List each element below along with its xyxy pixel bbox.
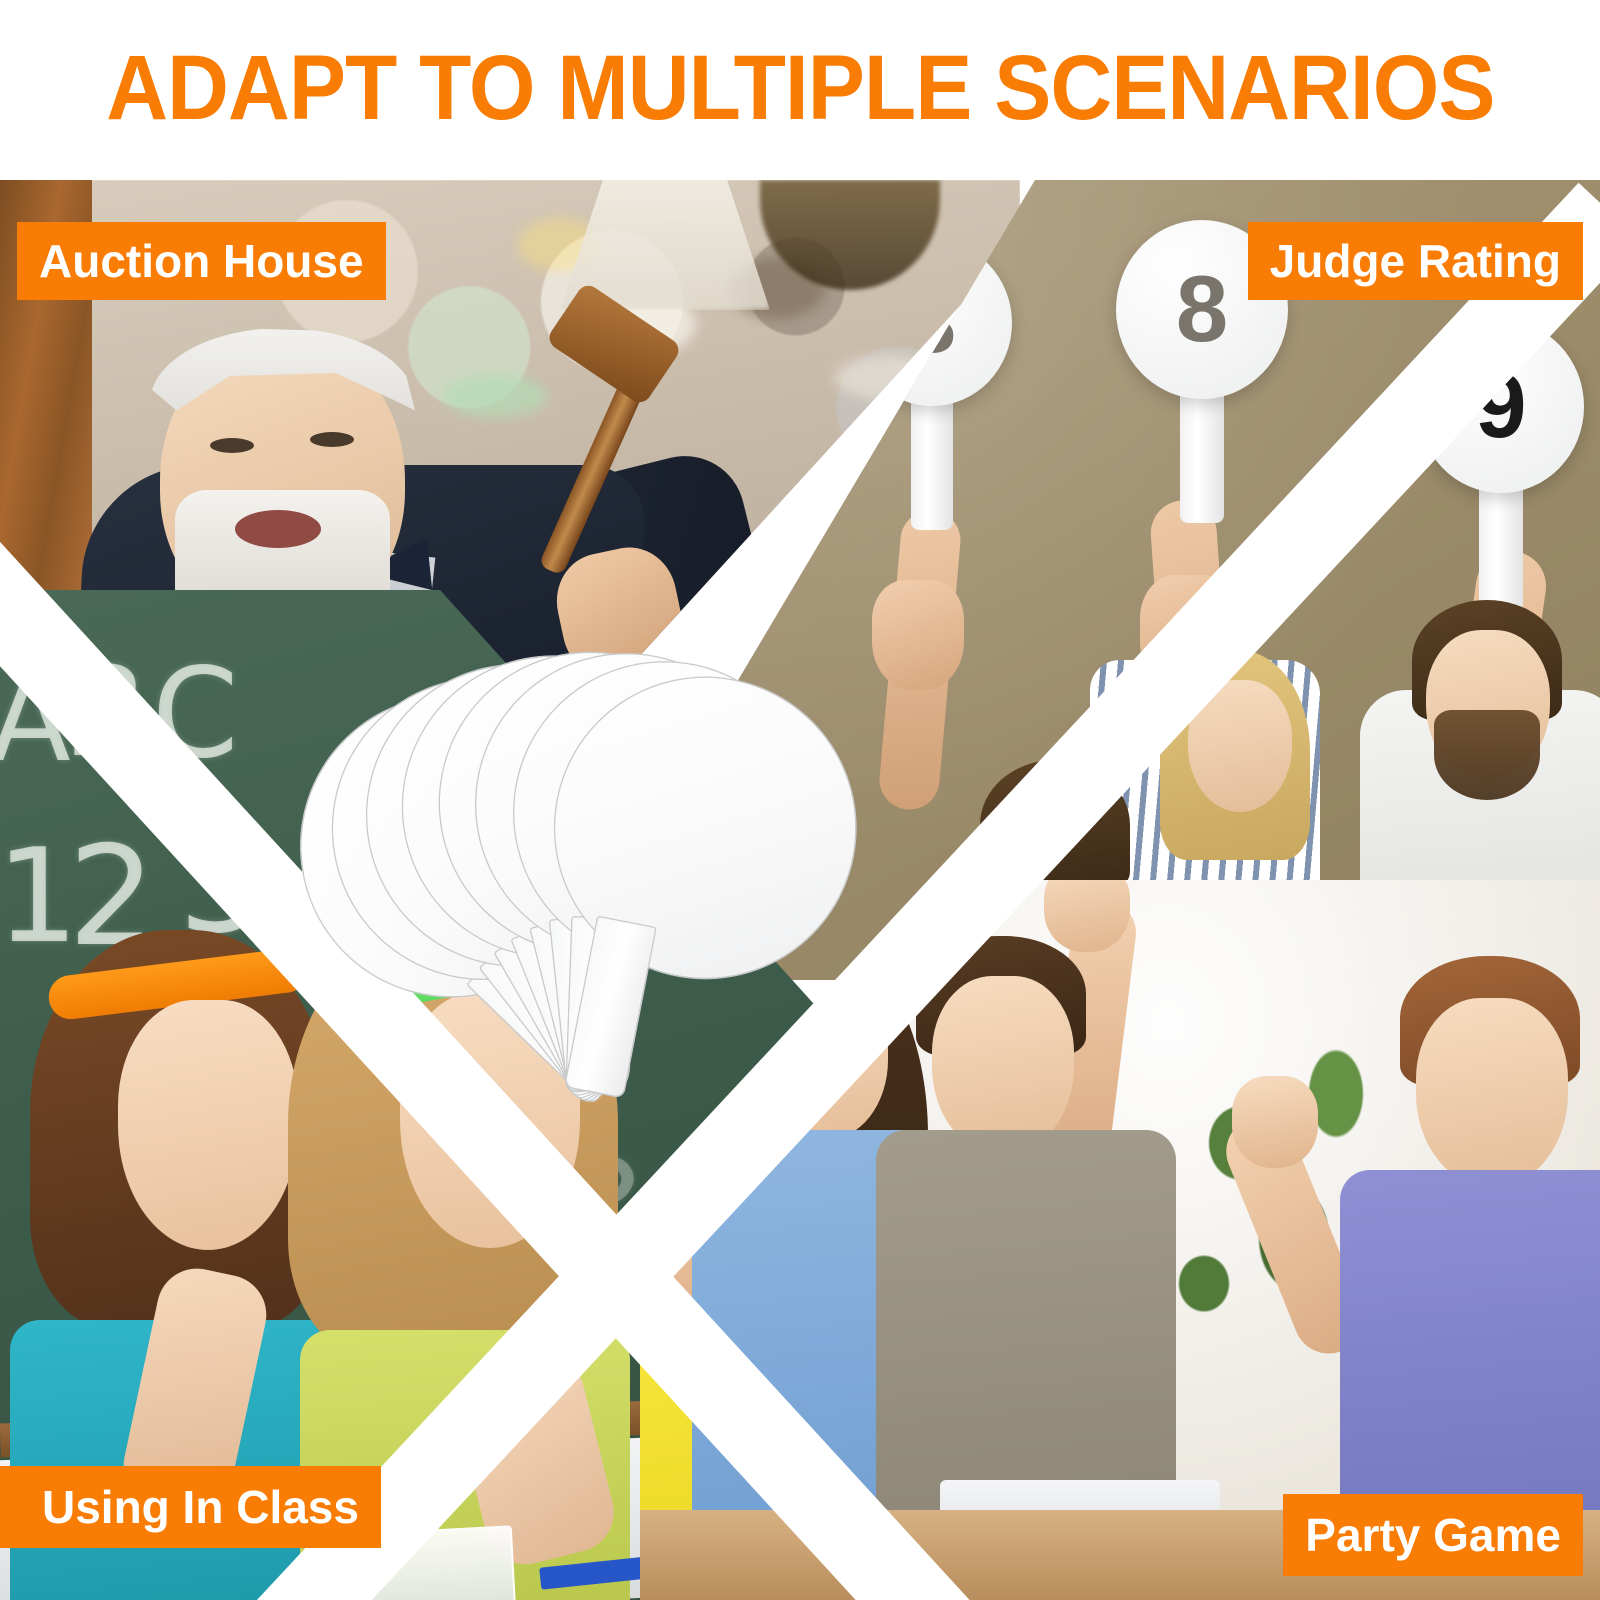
- banner-header: ADAPT TO MULTIPLE SCENARIOS: [0, 0, 1600, 180]
- paddle-handle: [565, 917, 655, 1097]
- product-paddle-fan: [505, 660, 1105, 1220]
- paddle-number: 9: [1418, 320, 1584, 493]
- auctioneer-eye-right: [310, 432, 354, 447]
- paddle-head: [529, 652, 881, 1004]
- chalk-letter-a: A: [0, 650, 71, 788]
- badge-party-game: Party Game: [1283, 1494, 1583, 1576]
- paddle-handle: [1180, 393, 1225, 523]
- paddle-disc: 9: [1418, 320, 1584, 493]
- auctioneer-eye-left: [210, 438, 254, 453]
- party-person-3-face: [1416, 998, 1568, 1188]
- badge-judge-rating: Judge Rating: [1248, 222, 1583, 300]
- product-marketing-banner: ADAPT TO MULTIPLE SCENARIOS: [0, 0, 1600, 1600]
- judge-3-beard: [1434, 710, 1540, 800]
- paddle-handle: [1479, 487, 1522, 617]
- judge-2-face: [1188, 680, 1292, 812]
- badge-auction-house: Auction House: [17, 222, 386, 300]
- chalk-letter-c: C: [152, 642, 239, 786]
- page-title: ADAPT TO MULTIPLE SCENARIOS: [106, 42, 1494, 134]
- scenario-collage: 8 8 9: [0, 180, 1600, 1600]
- girl-1-face: [118, 1000, 298, 1250]
- auctioneer-mouth: [235, 510, 321, 548]
- chalk-letter-b: B: [62, 638, 148, 785]
- party-person-3-hand: [1232, 1076, 1318, 1168]
- badge-using-in-class: Using In Class: [0, 1466, 381, 1548]
- paddle-handle: [911, 400, 953, 530]
- chalk-digit-1: 1: [0, 820, 79, 972]
- judge-paddle-3: 9: [1418, 320, 1584, 617]
